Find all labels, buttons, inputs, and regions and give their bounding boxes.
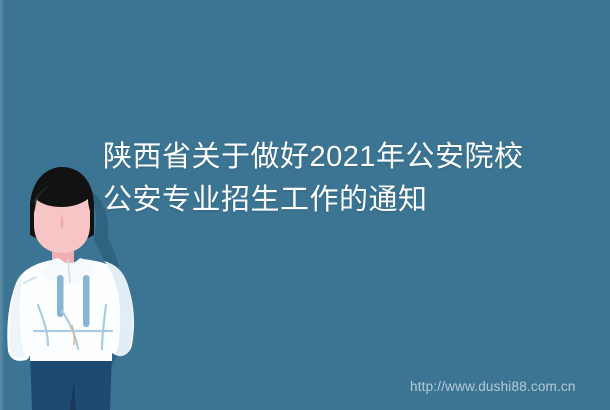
promo-banner: 陕西省关于做好2021年公安院校公安专业招生工作的通知 http://www.d…: [0, 0, 610, 410]
hoodie: [7, 258, 134, 361]
page-title: 陕西省关于做好2021年公安院校公安专业招生工作的通知: [103, 136, 533, 222]
watermark-url: http://www.dushi88.com.cn: [410, 379, 576, 394]
drawstring-right: [83, 275, 90, 327]
